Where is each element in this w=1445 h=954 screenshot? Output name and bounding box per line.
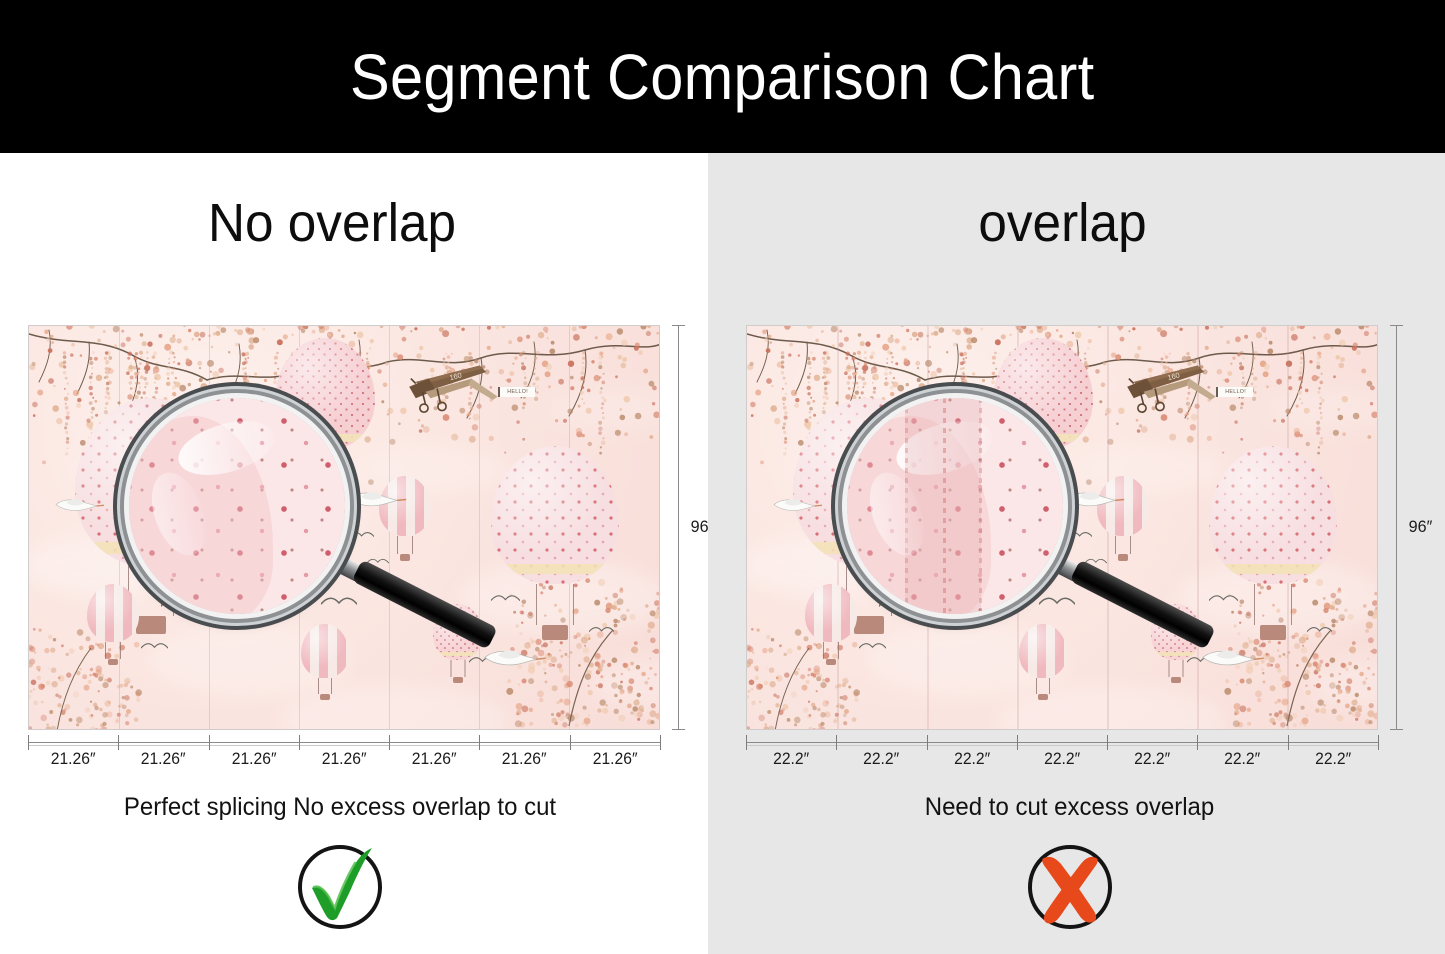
dimension-line-vertical xyxy=(1396,325,1397,730)
bird-icon xyxy=(1209,594,1238,604)
magnifier-icon xyxy=(113,388,443,628)
dimension-cap-bottom xyxy=(672,729,685,730)
balloon-basket xyxy=(453,677,463,683)
page-title: Segment Comparison Chart xyxy=(350,45,1094,109)
title-bar: Segment Comparison Chart xyxy=(0,0,1445,153)
segment-label: 21.26″ xyxy=(30,750,116,769)
bird-icon xyxy=(859,642,886,651)
ruler-tick xyxy=(389,735,390,750)
balloon-ropes xyxy=(1036,678,1050,694)
ruler-tick xyxy=(836,735,837,750)
balloon-basket xyxy=(108,659,118,665)
segment-label-row-left: 21.26″21.26″21.26″21.26″21.26″21.26″21.2… xyxy=(28,750,660,769)
hot-air-balloon-icon xyxy=(301,624,349,678)
check-mark xyxy=(294,841,386,933)
balloon-basket xyxy=(320,694,330,700)
balloon-ropes xyxy=(823,642,839,659)
page-root: Segment Comparison Chart No overlap xyxy=(0,0,1445,954)
dimension-line-vertical xyxy=(678,325,679,730)
ruler-line xyxy=(28,742,660,743)
ruler-line-secondary xyxy=(746,745,1378,746)
ruler-tick xyxy=(479,735,480,750)
segment-label: 22.2″ xyxy=(748,750,834,769)
panel-no-overlap: No overlap xyxy=(0,153,708,954)
balloon-envelope xyxy=(301,624,349,678)
mural-image-left: 160 HELLO! xyxy=(28,325,660,730)
comparison-panels: No overlap xyxy=(0,153,1445,954)
figure-left: 160 HELLO! 96″ xyxy=(28,325,660,730)
hot-air-balloon-icon xyxy=(1209,446,1337,584)
ruler-tick xyxy=(570,735,571,750)
segment-label: 22.2″ xyxy=(839,750,925,769)
balloon-ropes xyxy=(451,660,466,677)
dimension-cap-top xyxy=(672,325,685,326)
dimension-cap-top xyxy=(1390,325,1403,326)
dimension-cap-bottom xyxy=(1390,729,1403,730)
ruler-tick xyxy=(1017,735,1018,750)
ruler-tick xyxy=(209,735,210,750)
panel-heading-right: overlap xyxy=(712,195,1412,252)
caption-right: Need to cut excess overlap xyxy=(716,793,1424,822)
bird-icon xyxy=(589,626,614,634)
ruler-tick xyxy=(746,735,747,750)
panel-heading-left: No overlap xyxy=(0,195,668,252)
segment-label: 22.2″ xyxy=(1290,750,1376,769)
bird-icon xyxy=(491,594,520,604)
segment-label: 22.2″ xyxy=(1019,750,1105,769)
magnifier-lens xyxy=(847,398,1063,614)
hello-banner-text: HELLO! xyxy=(1216,387,1254,398)
segment-label: 21.26″ xyxy=(391,750,477,769)
magnifier-content xyxy=(847,398,1063,614)
ruler-tick xyxy=(1288,735,1289,750)
segment-label: 22.2″ xyxy=(929,750,1015,769)
stork-icon xyxy=(481,644,548,671)
segment-label: 21.26″ xyxy=(301,750,387,769)
bird-icon xyxy=(141,642,168,651)
stork-icon xyxy=(53,494,106,515)
ruler-tick xyxy=(1107,735,1108,750)
ruler-line xyxy=(746,742,1378,743)
balloon-envelope xyxy=(1019,624,1067,678)
balloon-envelope xyxy=(491,446,619,584)
magnifier-icon xyxy=(831,388,1161,628)
segment-ruler-left: 21.26″21.26″21.26″21.26″21.26″21.26″21.2… xyxy=(28,733,660,735)
mural-image-right: 160 HELLO! xyxy=(746,325,1378,730)
balloon-ropes xyxy=(1254,584,1292,625)
ruler-tick xyxy=(1197,735,1198,750)
balloon-band xyxy=(1209,564,1337,574)
stork-icon xyxy=(771,494,824,515)
magnified-overlap-band xyxy=(905,398,981,614)
ruler-tick xyxy=(299,735,300,750)
hot-air-balloon-icon xyxy=(491,446,619,584)
verdict-left xyxy=(0,841,694,933)
segment-label: 22.2″ xyxy=(1200,750,1286,769)
segment-label: 21.26″ xyxy=(211,750,297,769)
ruler-line-secondary xyxy=(28,745,660,746)
caption-left: Perfect splicing No excess overlap to cu… xyxy=(0,793,680,822)
ruler-tick xyxy=(927,735,928,750)
ruler-tick xyxy=(118,735,119,750)
green-check-icon xyxy=(294,841,386,933)
svg-text:160: 160 xyxy=(449,370,463,382)
balloon-basket xyxy=(1171,677,1181,683)
balloon-basket xyxy=(1038,694,1048,700)
panel-overlap: overlap xyxy=(708,153,1445,954)
magnifier-lens xyxy=(129,398,345,614)
hot-air-balloon-icon xyxy=(1019,624,1067,678)
verdict-right xyxy=(701,841,1438,933)
figure-right: 160 HELLO! 96″ 22.2″22.2″22. xyxy=(746,325,1378,730)
bird-icon xyxy=(1307,626,1332,634)
stork-icon xyxy=(1199,644,1266,671)
balloon-basket xyxy=(542,625,568,640)
ruler-tick xyxy=(1378,735,1379,750)
ruler-tick xyxy=(28,735,29,750)
magnifier-content xyxy=(129,398,345,614)
segment-label: 21.26″ xyxy=(121,750,207,769)
balloon-envelope xyxy=(1209,446,1337,584)
segment-ruler-right: 22.2″22.2″22.2″22.2″22.2″22.2″22.2″ xyxy=(746,733,1378,735)
balloon-basket xyxy=(826,659,836,665)
segment-label: 21.26″ xyxy=(572,750,658,769)
balloon-ropes xyxy=(318,678,332,694)
cross-mark xyxy=(1024,841,1116,933)
red-cross-icon xyxy=(1024,841,1116,933)
height-label-right: 96″ xyxy=(1409,517,1433,537)
hello-banner-text: HELLO! xyxy=(498,387,536,398)
segment-label: 21.26″ xyxy=(482,750,568,769)
balloon-ropes xyxy=(1169,660,1184,677)
balloon-band xyxy=(491,564,619,574)
ruler-tick xyxy=(660,735,661,750)
svg-text:160: 160 xyxy=(1167,370,1181,382)
balloon-ropes xyxy=(105,642,121,659)
balloon-basket xyxy=(1260,625,1286,640)
balloon-ropes xyxy=(536,584,574,625)
segment-label: 22.2″ xyxy=(1109,750,1195,769)
segment-label-row-right: 22.2″22.2″22.2″22.2″22.2″22.2″22.2″ xyxy=(746,750,1378,769)
